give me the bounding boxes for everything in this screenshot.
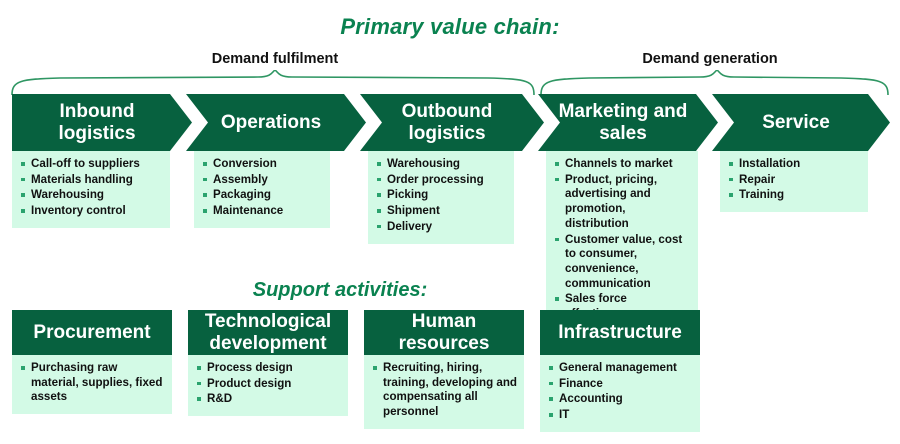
list-item: Process design (196, 361, 342, 376)
stage-bullets-inbound-logistics: Call-off to suppliers Materials handling… (12, 151, 170, 228)
support-title-line2: resources (399, 333, 490, 354)
stage-outbound-logistics[interactable]: Outbound logistics Warehousing Order pro… (360, 94, 544, 244)
list-item: R&D (196, 392, 342, 407)
bullet-list: Conversion Assembly Packaging Maintenanc… (202, 157, 324, 219)
list-item: Order processing (376, 173, 508, 188)
bullet-list: Process design Product design R&D (196, 361, 342, 407)
list-item: Installation (728, 157, 862, 172)
support-procurement[interactable]: Procurement Purchasing raw material, sup… (12, 310, 172, 414)
bullet-list: General management Finance Accounting IT (548, 361, 694, 423)
stage-bullets-operations: Conversion Assembly Packaging Maintenanc… (194, 151, 330, 228)
list-item: Call-off to suppliers (20, 157, 164, 172)
support-header-human-resources[interactable]: Human resources (364, 310, 524, 355)
bullet-list: Purchasing raw material, supplies, fixed… (20, 361, 166, 405)
list-item: Training (728, 188, 862, 203)
bullet-list: Warehousing Order processing Picking Shi… (376, 157, 508, 235)
stage-bullets-outbound-logistics: Warehousing Order processing Picking Shi… (368, 151, 514, 244)
list-item: Purchasing raw material, supplies, fixed… (20, 361, 166, 405)
support-technological-development[interactable]: Technological development Process design… (188, 310, 348, 416)
support-bullets-procurement: Purchasing raw material, supplies, fixed… (12, 355, 172, 414)
list-item: Delivery (376, 220, 508, 235)
list-item: Picking (376, 188, 508, 203)
support-title-line1: Technological (205, 311, 331, 332)
list-item: Inventory control (20, 204, 164, 219)
brace-group (0, 70, 900, 96)
support-bullets-human-resources: Recruiting, hiring, training, developing… (364, 355, 524, 429)
support-header-technological-development[interactable]: Technological development (188, 310, 348, 355)
stage-header-inbound-logistics[interactable]: Inbound logistics (12, 94, 192, 151)
list-item: Repair (728, 173, 862, 188)
list-item: Finance (548, 377, 694, 392)
support-activities-title: Support activities: (0, 279, 680, 302)
brace-label-demand-fulfilment: Demand fulfilment (110, 51, 440, 67)
list-item: Recruiting, hiring, training, developing… (372, 361, 518, 420)
support-title-line1: Infrastructure (558, 322, 682, 343)
stage-service[interactable]: Service Installation Repair Training (712, 94, 890, 212)
list-item: Product design (196, 377, 342, 392)
support-header-procurement[interactable]: Procurement (12, 310, 172, 355)
bullet-list: Installation Repair Training (728, 157, 862, 203)
support-infrastructure[interactable]: Infrastructure General management Financ… (540, 310, 700, 432)
list-item: Channels to market (554, 157, 692, 172)
list-item: Warehousing (376, 157, 508, 172)
stage-header-operations[interactable]: Operations (186, 94, 366, 151)
brace-demand-fulfilment (12, 70, 534, 95)
support-title-line1: Human (412, 311, 476, 332)
stage-title-line1: Inbound (58, 101, 135, 122)
list-item: Warehousing (20, 188, 164, 203)
stage-title-line2: logistics (58, 123, 135, 144)
stage-title-line1: Service (762, 112, 830, 133)
bullet-list: Recruiting, hiring, training, developing… (372, 361, 518, 420)
bullet-list: Call-off to suppliers Materials handling… (20, 157, 164, 219)
stage-title-line1: Operations (221, 112, 321, 133)
list-item: Conversion (202, 157, 324, 172)
stage-title-line2: sales (559, 123, 688, 144)
stage-title-line2: logistics (402, 123, 493, 144)
list-item: Shipment (376, 204, 508, 219)
list-item: Maintenance (202, 204, 324, 219)
list-item: General management (548, 361, 694, 376)
list-item: IT (548, 408, 694, 423)
list-item: Packaging (202, 188, 324, 203)
value-chain-diagram: Primary value chain: Demand fulfilment D… (0, 0, 900, 444)
stage-title-line1: Outbound (402, 101, 493, 122)
stage-bullets-marketing-and-sales: Channels to market Product, pricing, adv… (546, 151, 698, 331)
stage-header-service[interactable]: Service (712, 94, 890, 151)
support-title-line2: development (209, 333, 326, 354)
stage-title-line1: Marketing and (559, 101, 688, 122)
list-item: Product, pricing, advertising and promot… (554, 173, 692, 232)
brace-demand-generation (541, 70, 888, 95)
stage-header-marketing-and-sales[interactable]: Marketing and sales (538, 94, 718, 151)
stage-bullets-service: Installation Repair Training (720, 151, 868, 212)
list-item: Accounting (548, 392, 694, 407)
page-title: Primary value chain: (0, 14, 900, 40)
support-header-infrastructure[interactable]: Infrastructure (540, 310, 700, 355)
list-item: Assembly (202, 173, 324, 188)
support-human-resources[interactable]: Human resources Recruiting, hiring, trai… (364, 310, 524, 429)
support-bullets-technological-development: Process design Product design R&D (188, 355, 348, 416)
support-title-line1: Procurement (33, 322, 150, 343)
support-bullets-infrastructure: General management Finance Accounting IT (540, 355, 700, 432)
stage-operations[interactable]: Operations Conversion Assembly Packaging… (186, 94, 366, 228)
stage-inbound-logistics[interactable]: Inbound logistics Call-off to suppliers … (12, 94, 192, 228)
list-item: Materials handling (20, 173, 164, 188)
brace-label-demand-generation: Demand generation (545, 51, 875, 67)
stage-header-outbound-logistics[interactable]: Outbound logistics (360, 94, 544, 151)
